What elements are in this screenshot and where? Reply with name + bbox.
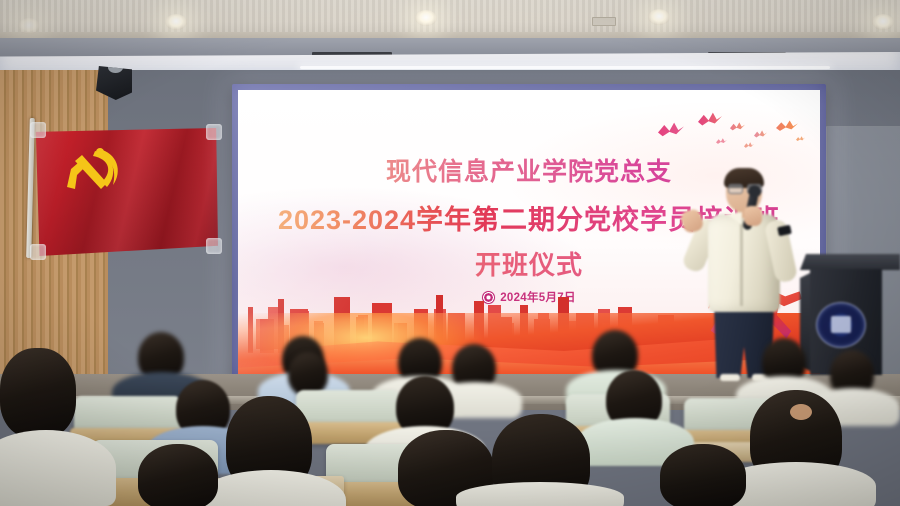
wristwatch-icon [777,225,792,237]
speaker-shirt-placket [740,218,743,306]
ceiling-downlight-icon [648,9,670,25]
flag-tape-icon [206,124,222,140]
flag-tape-icon [30,122,46,138]
speaker-shoe [720,374,740,381]
cpc-party-flag [34,128,218,256]
audience-head [660,444,746,506]
flag-tape-icon [206,238,222,254]
audience-head [138,444,218,506]
ceiling [0,0,900,36]
audience-head [0,348,76,438]
ceiling-vent-icon [592,17,616,26]
speaker-right-hand [744,206,762,226]
ceiling-downlight-icon [415,10,437,26]
audience-shoulders [456,482,624,506]
ceiling-downlight-icon [872,14,894,30]
flag-tape-icon [30,244,46,260]
hair-tie-icon [790,404,812,420]
lecture-hall-photo: 现代信息产业学院党总支 2023-2024学年第二期分党校学员培训班 开班仪式 … [0,0,900,506]
ceiling-downlight-icon [18,18,40,34]
soffit-light-slot [300,66,830,69]
hammer-and-sickle-icon [55,141,127,201]
podium-top [800,254,900,270]
ceiling-downlight-icon [165,14,187,30]
college-emblem-icon [816,302,866,348]
